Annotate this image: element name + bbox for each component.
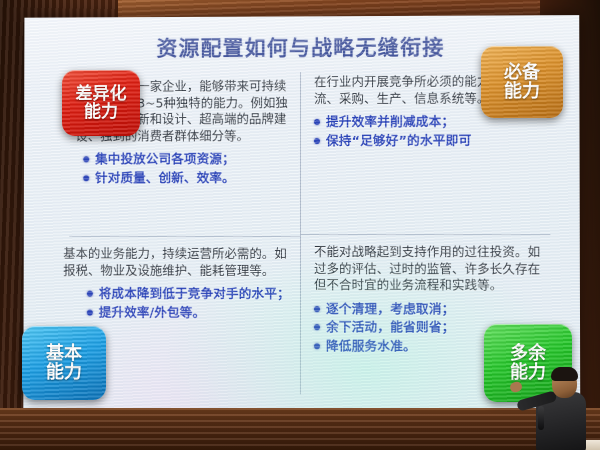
badge-line-1: 差异化 — [76, 85, 127, 103]
quadrant-paragraph: 基本的业务能力，持续运营所必需的。如报税、物业及设施维护、能耗管理等。 — [63, 246, 298, 279]
bullet-dot-icon — [83, 156, 89, 162]
presentation-photo: 资源配置如何与战略无缝衔接 有别于任何一家企业，能够带来可持续竞争优势的3~5种… — [0, 0, 600, 450]
bullet-item: 逐个清理，考虑取消； — [314, 301, 552, 318]
bullet-dot-icon — [314, 119, 320, 125]
badge-line-1: 必备 — [504, 63, 540, 82]
bullet-dot-icon — [314, 343, 320, 349]
badge-essential-capability: 必备 能力 — [481, 46, 563, 118]
bullet-text: 保持“足够好”的水平即可 — [326, 132, 547, 149]
quadrant-bullet-list: 提升效率并削减成本； 保持“足够好”的水平即可 — [314, 114, 547, 150]
badge-line-2: 能力 — [504, 82, 540, 101]
bullet-item: 集中投放公司各项资源； — [83, 151, 296, 168]
bullet-dot-icon — [83, 175, 89, 181]
bullet-dot-icon — [314, 138, 320, 144]
horizontal-divider-right — [301, 234, 550, 235]
bullet-text: 针对质量、创新、效率。 — [95, 170, 296, 187]
bullet-dot-icon — [87, 309, 93, 315]
bullet-text: 将成本降到低于竞争对手的水平； — [99, 286, 298, 303]
quadrant-bullet-list: 将成本降到低于竞争对手的水平； 提升效率/外包等。 — [87, 286, 298, 321]
bullet-dot-icon — [314, 324, 320, 330]
bullet-item: 将成本降到低于竞争对手的水平； — [87, 286, 298, 303]
badge-basic-capability: 基本 能力 — [22, 326, 106, 400]
quadrant-basic: 基本的业务能力，持续运营所必需的。如报税、物业及设施维护、能耗管理等。 将成本降… — [63, 246, 298, 323]
bullet-dot-icon — [87, 291, 93, 297]
badge-line-2: 能力 — [84, 103, 118, 121]
room-wall-bottom — [0, 408, 600, 450]
bullet-text: 提升效率/外包等。 — [99, 304, 298, 321]
horizontal-divider-left — [69, 236, 300, 237]
bullet-item: 提升效率/外包等。 — [87, 304, 298, 321]
bullet-item: 保持“足够好”的水平即可 — [314, 132, 547, 149]
presenter-hair — [551, 367, 578, 381]
badge-differentiating-capability: 差异化 能力 — [62, 70, 140, 136]
bullet-text: 逐个清理，考虑取消； — [326, 301, 552, 318]
badge-line-2: 能力 — [46, 363, 82, 382]
bullet-text: 集中投放公司各项资源； — [95, 151, 296, 168]
quadrant-paragraph: 不能对战略起到支持作用的过往投资。如过多的评估、过时的监管、许多长久存在但不合时… — [314, 244, 552, 294]
quadrant-bullet-list: 集中投放公司各项资源； 针对质量、创新、效率。 — [83, 151, 296, 186]
badge-line-1: 基本 — [46, 344, 82, 363]
bullet-item: 针对质量、创新、效率。 — [83, 170, 296, 187]
presenter-person — [512, 356, 600, 450]
microphone-icon — [538, 406, 544, 430]
bullet-dot-icon — [314, 306, 320, 312]
